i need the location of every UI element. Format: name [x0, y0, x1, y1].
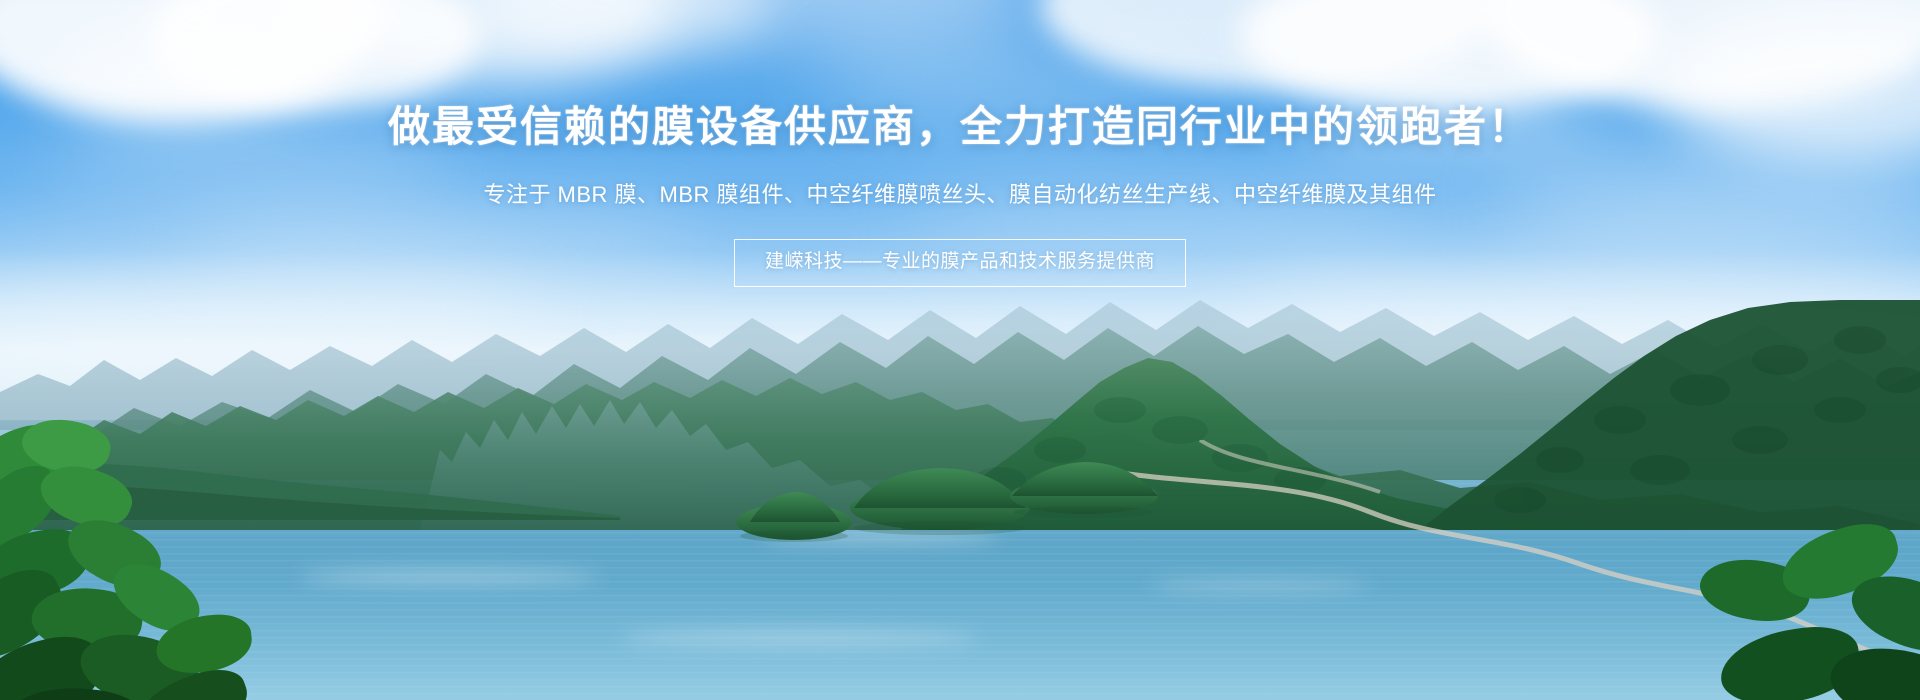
water-glint: [620, 630, 980, 646]
banner-content: 做最受信赖的膜设备供应商，全力打造同行业中的领跑者！ 专注于 MBR 膜、MBR…: [0, 0, 1920, 287]
tagline-box: 建嵘科技——专业的膜产品和技术服务提供商: [734, 239, 1186, 287]
water-glint: [300, 570, 600, 584]
foreground-foliage-right: [1700, 520, 1920, 700]
lake-islands: [690, 450, 1210, 570]
tagline-box-wrapper: 建嵘科技——专业的膜产品和技术服务提供商: [0, 239, 1920, 287]
foreground-foliage: [0, 420, 270, 700]
banner-headline: 做最受信赖的膜设备供应商，全力打造同行业中的领跑者！: [0, 104, 1920, 149]
hero-banner: 做最受信赖的膜设备供应商，全力打造同行业中的领跑者！ 专注于 MBR 膜、MBR…: [0, 0, 1920, 700]
banner-subheadline: 专注于 MBR 膜、MBR 膜组件、中空纤维膜喷丝头、膜自动化纺丝生产线、中空纤…: [0, 182, 1920, 208]
